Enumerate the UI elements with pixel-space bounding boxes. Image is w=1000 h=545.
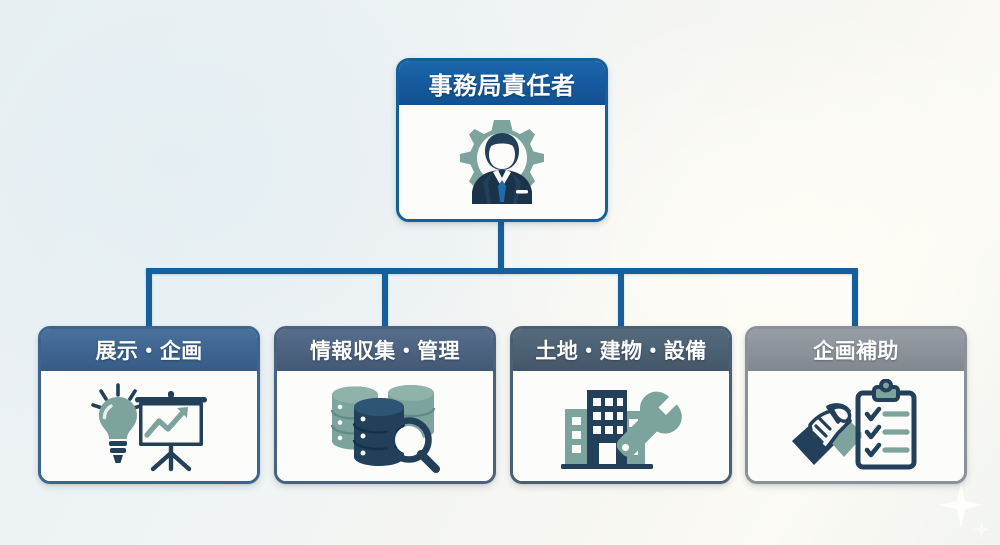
- node-child-4-title: 企画補助: [748, 329, 964, 371]
- node-child-2[interactable]: 情報収集・管理: [274, 326, 496, 484]
- database-search-icon: [326, 379, 444, 475]
- manager-gear-icon: [450, 112, 554, 216]
- node-child-1[interactable]: 展示・企画: [38, 326, 260, 484]
- connector-horizontal-bus: [146, 268, 858, 274]
- handshake-clipboard-icon: [790, 379, 922, 475]
- node-root-icon-area: [399, 105, 605, 219]
- node-child-1-title: 展示・企画: [41, 329, 257, 371]
- node-child-3[interactable]: 土地・建物・設備: [510, 326, 732, 484]
- sparkle-small-icon: [972, 520, 991, 539]
- building-wrench-icon: [557, 379, 685, 475]
- lightbulb-presentation-icon: [85, 379, 213, 475]
- node-root-title: 事務局責任者: [399, 61, 605, 105]
- node-child-3-title: 土地・建物・設備: [513, 329, 729, 371]
- diagram-canvas: 事務局責任者: [0, 0, 1000, 545]
- connector-drop-2: [382, 268, 388, 328]
- connector-root-stem: [498, 221, 504, 273]
- node-root[interactable]: 事務局責任者: [396, 58, 608, 222]
- node-child-4[interactable]: 企画補助: [745, 326, 967, 484]
- connector-drop-4: [852, 268, 858, 328]
- sparkle-large-icon: [938, 482, 984, 528]
- node-child-3-icon-area: [513, 371, 729, 481]
- node-child-2-icon-area: [277, 371, 493, 481]
- node-child-2-title: 情報収集・管理: [277, 329, 493, 371]
- connector-drop-1: [146, 268, 152, 328]
- node-child-1-icon-area: [41, 371, 257, 481]
- node-child-4-icon-area: [748, 371, 964, 481]
- connector-drop-3: [618, 268, 624, 328]
